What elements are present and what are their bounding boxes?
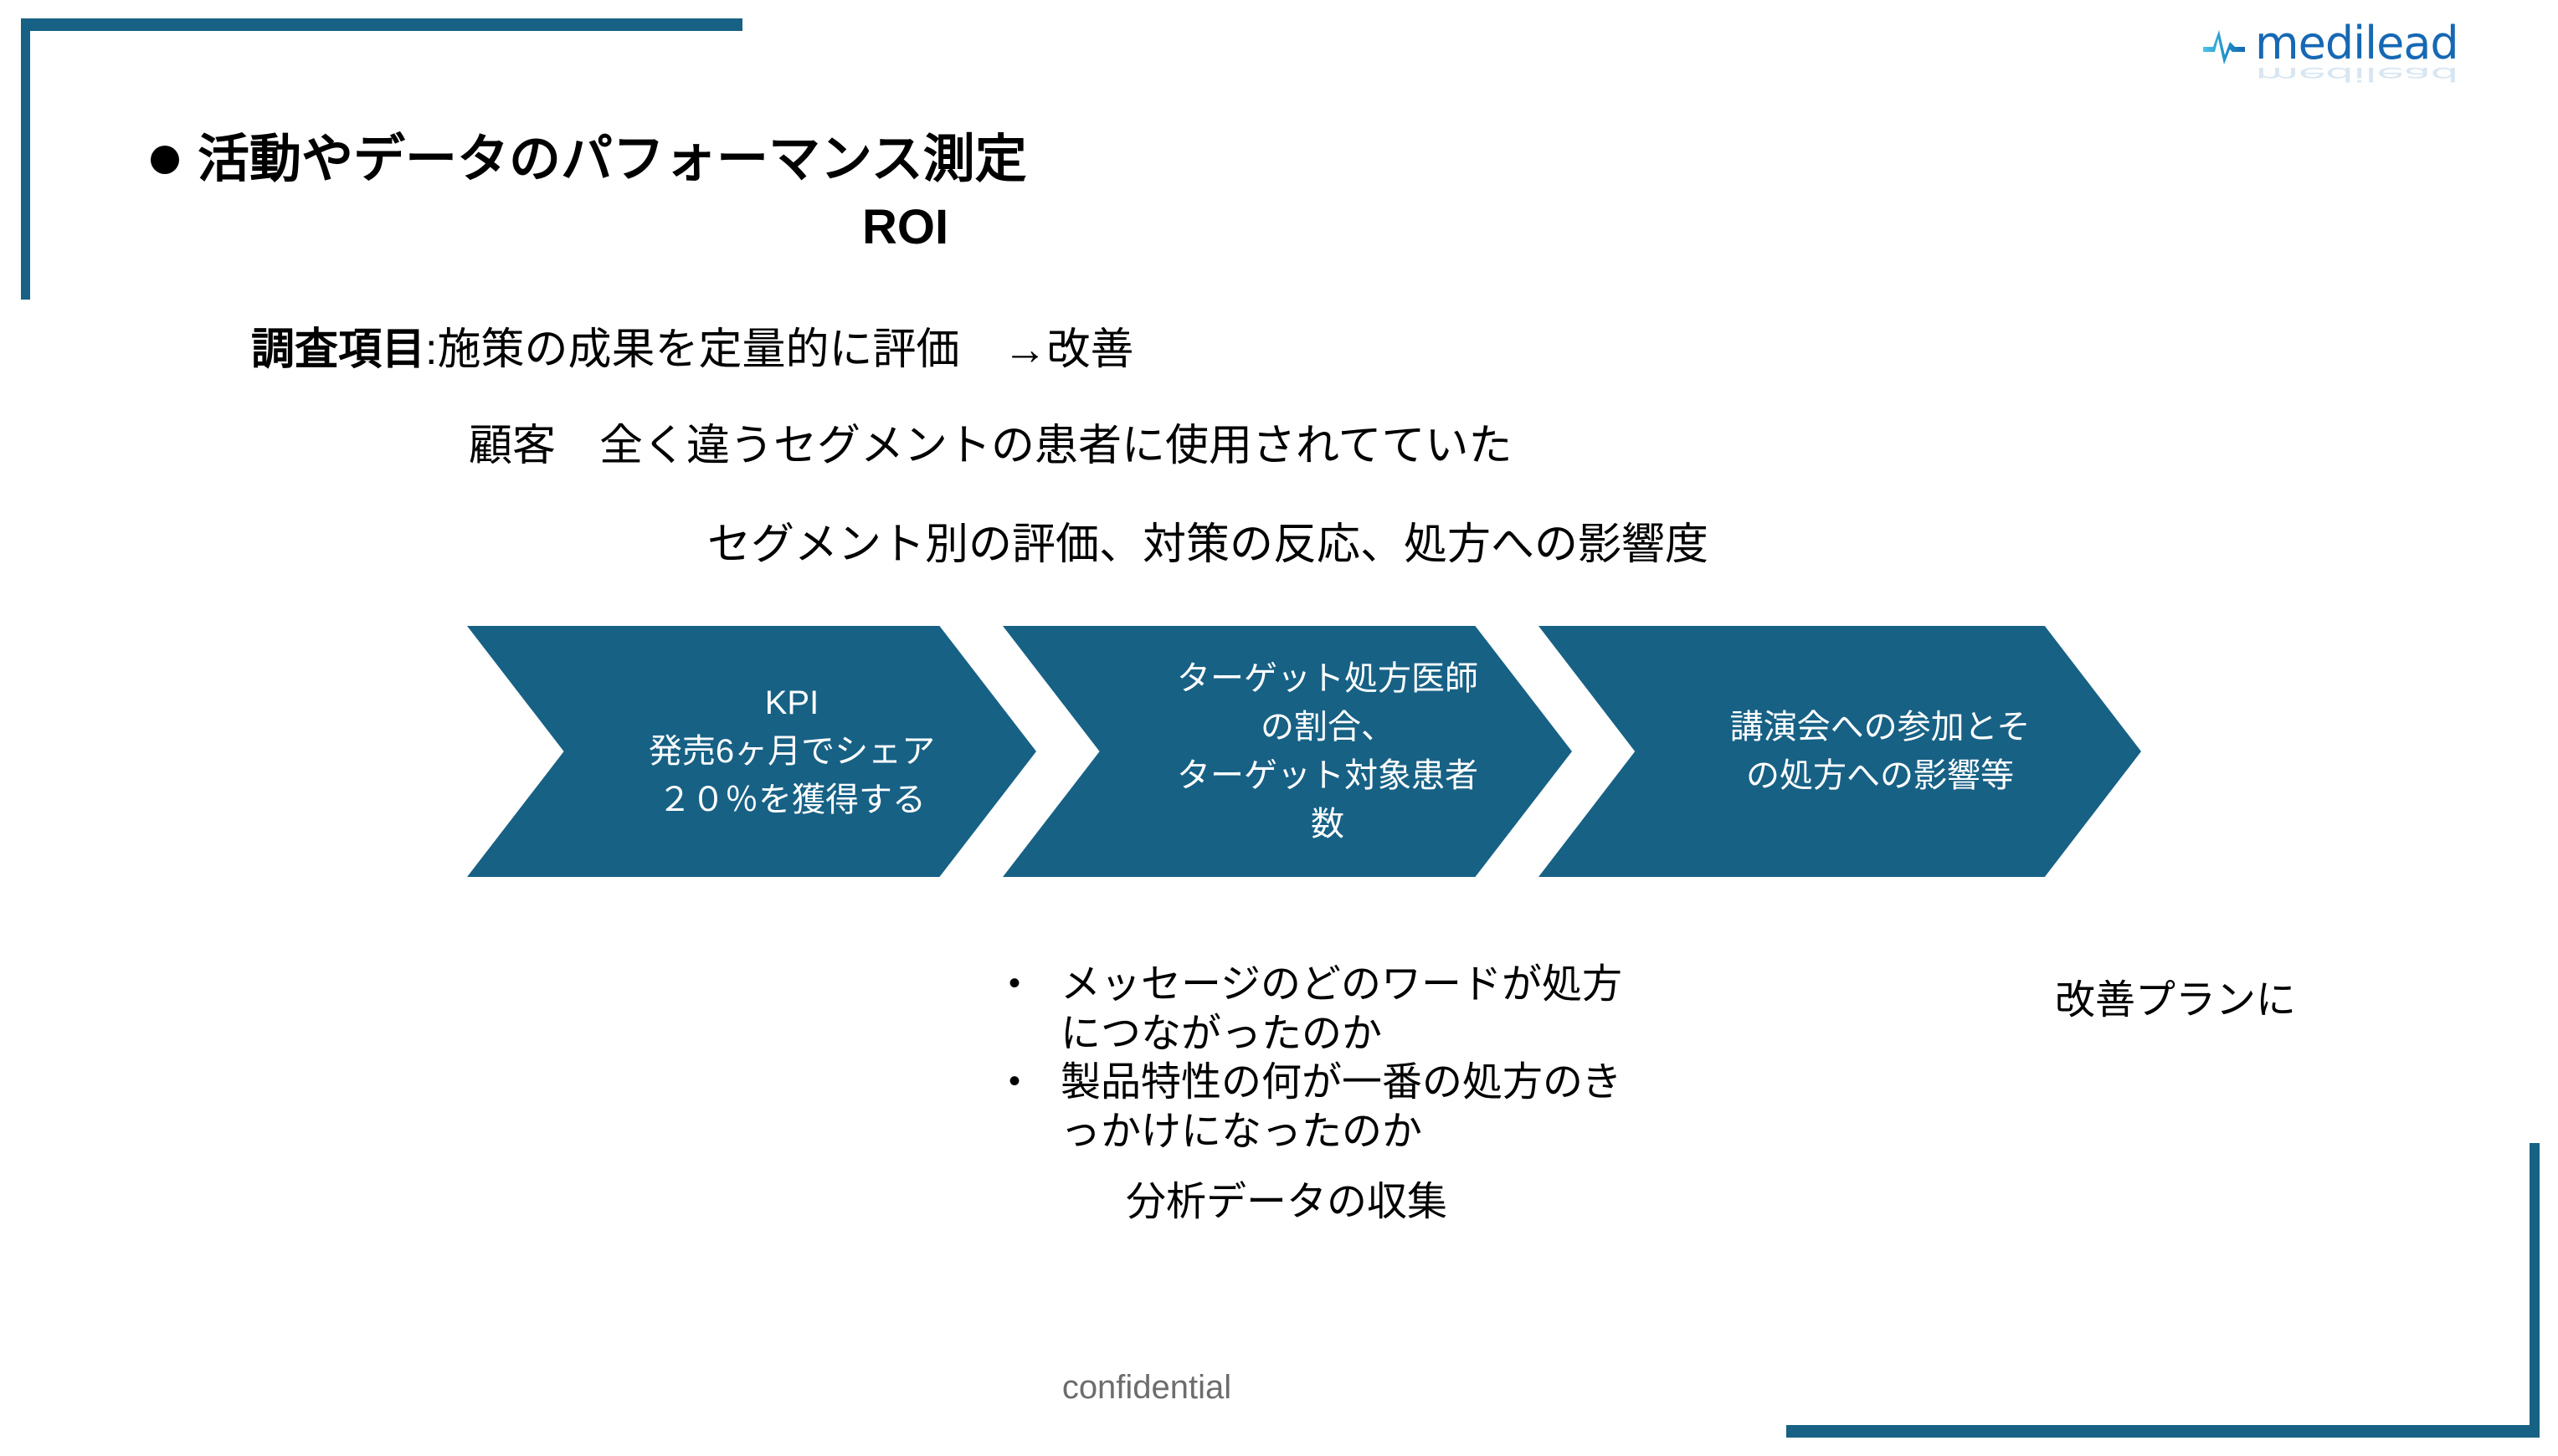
bullet-dot-icon: •	[1009, 961, 1061, 1006]
bottom-right-bracket-vertical	[2530, 1143, 2540, 1438]
list-item: • 製品特性の何が一番の処方のきっかけになったのか	[1009, 1059, 1645, 1156]
chevron-line: 数	[1177, 800, 1478, 848]
chevron-line: ターゲット対象患者	[1177, 751, 1478, 800]
survey-line: 調査項目:施策の成果を定量的に評価 →改善	[251, 314, 1133, 377]
chevron-step-lecture-label: 講演会への参加とそ の処方への影響等	[1730, 703, 2031, 800]
chevron-step-target-label: ターゲット処方医師 の割合、 ターゲット対象患者 数	[1177, 654, 1478, 848]
top-left-bracket-vertical	[21, 18, 30, 300]
title-subheading: ROI	[862, 199, 948, 255]
list-item: • メッセージのどのワードが処方につながったのか	[1009, 961, 1645, 1059]
chevron-step-lecture[interactable]: 講演会への参加とそ の処方への影響等	[1538, 626, 2141, 877]
chevron-step-target[interactable]: ターゲット処方医師 の割合、 ターゲット対象患者 数	[1003, 626, 1572, 877]
slide-canvas: medilead medilead 活動やデータのパフォーマンス測定 ROI 調…	[0, 0, 2558, 1456]
list-item-text: メッセージのどのワードが処方につながったのか	[1061, 961, 1645, 1059]
list-item-text: 製品特性の何が一番の処方のきっかけになったのか	[1061, 1059, 1645, 1156]
title-bullet-icon	[151, 146, 179, 174]
title-heading: 活動やデータのパフォーマンス測定	[198, 132, 1027, 187]
bottom-right-bracket-horizontal	[1786, 1425, 2540, 1438]
data-collection-note: 分析データの収集	[1126, 1168, 1447, 1227]
bullet-dot-icon: •	[1009, 1059, 1061, 1104]
segment-line: セグメント別の評価、対策の反応、処方への影響度	[707, 509, 1708, 572]
chevron-step-kpi[interactable]: KPI 発売6ヶ月でシェア ２０％を獲得する	[467, 626, 1036, 877]
improvement-plan-note: 改善プランに	[2055, 966, 2296, 1025]
survey-rest: :施策の成果を定量的に評価 →改善	[425, 326, 1133, 374]
top-left-bracket-horizontal	[21, 18, 742, 31]
medilead-logo: medilead medilead	[2201, 22, 2453, 95]
chevron-line: KPI	[649, 679, 935, 727]
confidential-footer: confidential	[0, 1369, 2293, 1407]
customer-line: 顧客 全く違うセグメントの患者に使用されてていた	[469, 410, 1512, 473]
chevron-line: の割合、	[1177, 703, 1478, 751]
logo-reflection: medilead	[2255, 64, 2458, 84]
chevron-step-kpi-label: KPI 発売6ヶ月でシェア ２０％を獲得する	[649, 679, 935, 824]
chevron-line: 発売6ヶ月でシェア	[649, 727, 935, 776]
survey-label: 調査項目	[251, 326, 425, 374]
chevron-line: ターゲット処方医師	[1177, 654, 1478, 703]
chevron-line: ２０％を獲得する	[649, 776, 935, 824]
pulse-mark-icon	[2201, 22, 2258, 65]
logo-wordmark: medilead	[2255, 22, 2458, 65]
chevron-line: の処方への影響等	[1730, 751, 2031, 800]
process-chevrons: KPI 発売6ヶ月でシェア ２０％を獲得する ターゲット処方医師 の割合、 ター…	[467, 626, 2191, 877]
chevron-line: 講演会への参加とそ	[1730, 703, 2031, 751]
page-title: 活動やデータのパフォーマンス測定	[151, 132, 1027, 187]
analysis-bullet-list: • メッセージのどのワードが処方につながったのか • 製品特性の何が一番の処方の…	[1009, 961, 1645, 1156]
